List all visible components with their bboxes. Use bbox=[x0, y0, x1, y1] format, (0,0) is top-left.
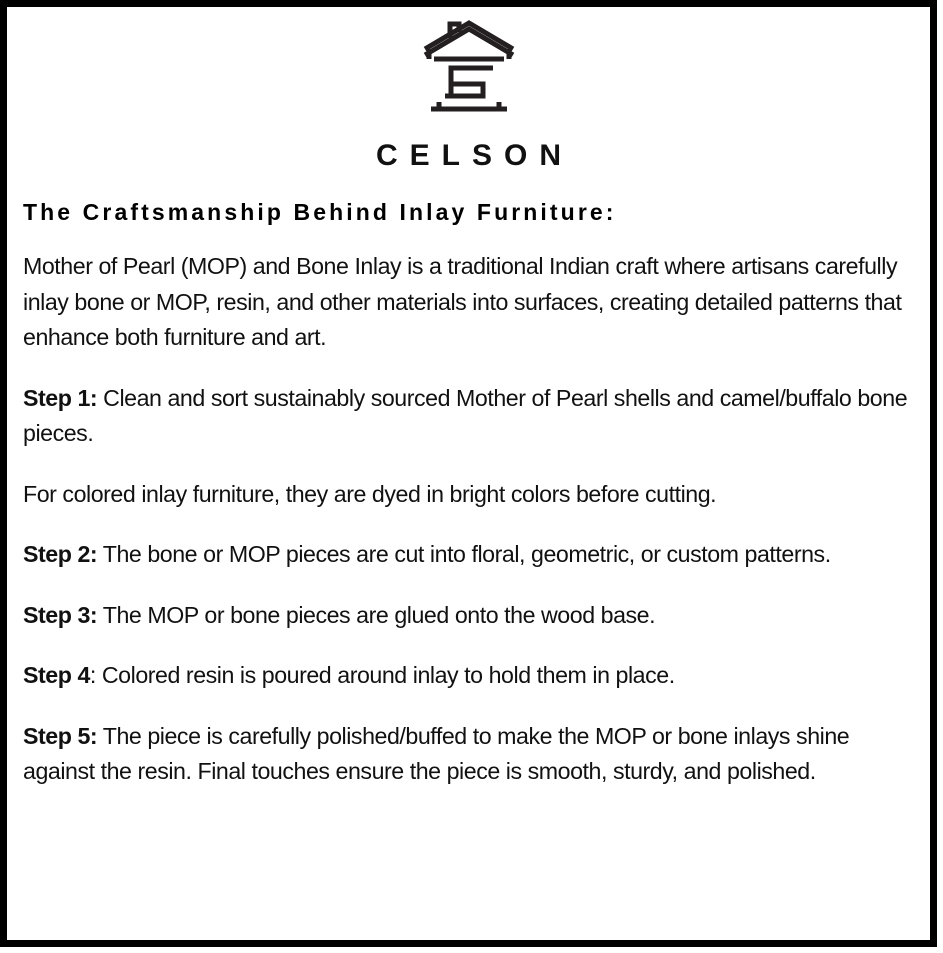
paragraph-text: For colored inlay furniture, they are dy… bbox=[23, 481, 716, 507]
paragraph-note-colored: For colored inlay furniture, they are dy… bbox=[23, 477, 916, 513]
paragraph-step-4: Step 4: Colored resin is poured around i… bbox=[23, 658, 916, 694]
paragraph-step-2: Step 2: The bone or MOP pieces are cut i… bbox=[23, 537, 916, 573]
paragraph-text: Clean and sort sustainably sourced Mothe… bbox=[23, 385, 907, 447]
brand-block: CELSON bbox=[16, 7, 921, 171]
paragraph-intro: Mother of Pearl (MOP) and Bone Inlay is … bbox=[23, 249, 916, 356]
paragraph-lead: Step 4 bbox=[23, 662, 90, 688]
paragraph-step-1: Step 1: Clean and sort sustainably sourc… bbox=[23, 381, 916, 452]
paragraph-lead: Step 2: bbox=[23, 541, 97, 567]
poster-content: CELSON The Craftsmanship Behind Inlay Fu… bbox=[7, 7, 930, 940]
house-monogram-icon bbox=[421, 18, 517, 119]
paragraph-text: : Colored resin is poured around inlay t… bbox=[90, 662, 675, 688]
paragraph-text: The MOP or bone pieces are glued onto th… bbox=[97, 602, 655, 628]
brand-name: CELSON bbox=[16, 141, 921, 171]
paragraph-lead: Step 1: bbox=[23, 385, 97, 411]
page-title: The Craftsmanship Behind Inlay Furniture… bbox=[16, 200, 921, 225]
paragraph-text: The bone or MOP pieces are cut into flor… bbox=[97, 541, 831, 567]
paragraph-text: The piece is carefully polished/buffed t… bbox=[23, 723, 849, 785]
body-copy: Mother of Pearl (MOP) and Bone Inlay is … bbox=[16, 249, 921, 790]
paragraph-lead: Step 5: bbox=[23, 723, 97, 749]
poster-frame: CELSON The Craftsmanship Behind Inlay Fu… bbox=[0, 0, 937, 947]
paragraph-lead: Step 3: bbox=[23, 602, 97, 628]
paragraph-step-3: Step 3: The MOP or bone pieces are glued… bbox=[23, 598, 916, 634]
paragraph-step-5: Step 5: The piece is carefully polished/… bbox=[23, 719, 916, 790]
paragraph-text: Mother of Pearl (MOP) and Bone Inlay is … bbox=[23, 253, 901, 350]
